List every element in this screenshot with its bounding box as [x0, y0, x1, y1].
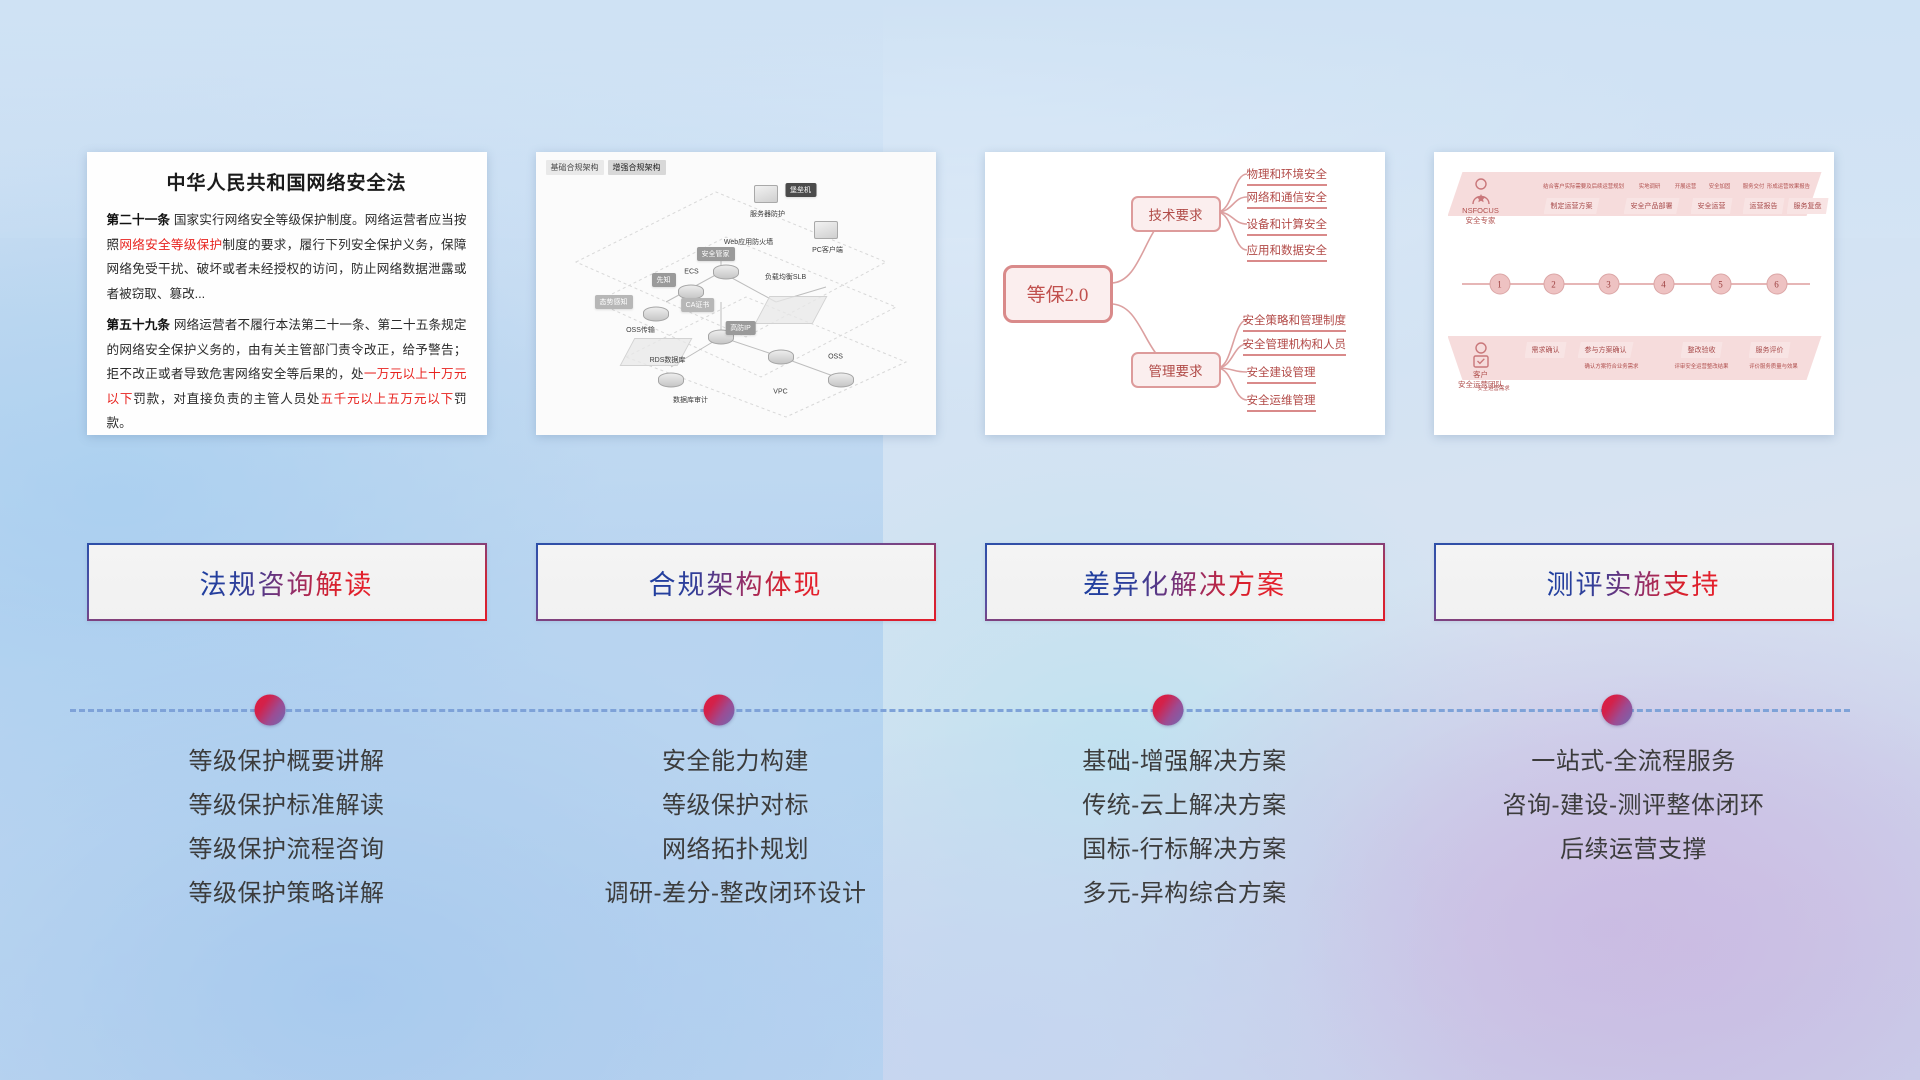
- architecture-node: 先知: [652, 273, 676, 287]
- timeline: [70, 693, 1850, 727]
- timeline-dot-3[interactable]: [1153, 695, 1184, 726]
- nsfocus-bottom-tag: 需求确认: [1525, 342, 1567, 358]
- architecture-icon-cylinder: [658, 373, 684, 388]
- law-article-21: 第二十一条 国家实行网络安全等级保护制度。网络运营者应当按照网络安全等级保护制度…: [107, 208, 467, 306]
- list-item: 等级保护标准解读: [189, 784, 385, 828]
- card-cybersecurity-law[interactable]: 中华人民共和国网络安全法 第二十一条 国家实行网络安全等级保护制度。网络运营者应…: [87, 152, 487, 435]
- nsfocus-bottom-tag: 参与方案确认: [1578, 342, 1634, 358]
- list-item: 安全能力构建: [662, 740, 809, 784]
- architecture-icon-cylinder: [828, 373, 854, 388]
- law-article-21-label: 第二十一条: [107, 213, 171, 227]
- mindmap-leaf: 物理和环境安全: [1247, 166, 1328, 186]
- list-item: 等级保护对标: [662, 784, 809, 828]
- nsfocus-bottom-tag: 服务评价: [1749, 342, 1791, 358]
- architecture-node: CA证书: [681, 298, 715, 312]
- architecture-node-label: VPC: [773, 389, 787, 396]
- mindmap-root-node: 等保2.0: [1003, 265, 1113, 323]
- preview-cards-row: 中华人民共和国网络安全法 第二十一条 国家实行网络安全等级保护制度。网络运营者应…: [0, 152, 1920, 442]
- nsfocus-bottom-caption: 评审安全运营整改结果: [1675, 362, 1729, 370]
- timeline-dashed-line: [70, 709, 1850, 712]
- architecture-node-label: 负载均衡SLB: [765, 272, 806, 282]
- architecture-node-label: OSS: [828, 354, 843, 361]
- nsfocus-top-tag: 服务复盘: [1787, 198, 1829, 214]
- list-item: 调研-差分-整改闭环设计: [605, 872, 867, 916]
- architecture-icon-cylinder: [768, 350, 794, 365]
- list-item: 多元-异构综合方案: [1082, 872, 1287, 916]
- list-item: 咨询-建设-测评整体闭环: [1503, 784, 1765, 828]
- list-item: 网络拓扑规划: [662, 828, 809, 872]
- nsfocus-step-axis: [1462, 283, 1810, 285]
- nsfocus-step-node: 3: [1598, 274, 1619, 295]
- law-article-59-label: 第五十九条: [107, 318, 171, 332]
- expert-person-icon: [1470, 178, 1492, 206]
- mindmap-leaf: 网络和通信安全: [1247, 189, 1328, 209]
- architecture-node: 堡垒机: [785, 183, 816, 197]
- law-article-59: 第五十九条 网络运营者不履行本法第二十一条、第二十五条规定的网络安全保护义务的，…: [107, 313, 467, 435]
- architecture-node-label: 服务器防护: [750, 209, 785, 219]
- nsfocus-step-node: 1: [1489, 274, 1510, 295]
- nsfocus-top-caption: 服务交付: [1743, 182, 1765, 190]
- list-item: 后续运营支撑: [1560, 828, 1707, 872]
- service-pills-row: 法规咨询解读 合规架构体现 差异化解决方案 测评实施支持: [0, 543, 1920, 621]
- mindmap-leaf: 设备和计算安全: [1247, 216, 1328, 236]
- law-article-21-highlight: 网络安全等级保护: [119, 238, 222, 252]
- nsfocus-top-tag: 制定运营方案: [1544, 198, 1600, 214]
- card-mindmap-dengbao[interactable]: 等保2.0 技术要求 管理要求 物理和环境安全 网络和通信安全 设备和计算安全 …: [985, 152, 1385, 435]
- list-item: 等级保护概要讲解: [189, 740, 385, 784]
- architecture-node: 态势感知: [595, 295, 633, 309]
- architecture-node-label: ECS: [684, 269, 698, 276]
- nsfocus-top-caption: 安全加固: [1709, 182, 1731, 190]
- architecture-node-label: OSS传输: [626, 325, 655, 335]
- nsfocus-top-caption: 开展运营: [1675, 182, 1697, 190]
- pill-label: 法规咨询解读: [200, 563, 374, 602]
- timeline-dot-4[interactable]: [1602, 695, 1633, 726]
- law-article-59-highlight-b: 五千元以上五万元以下: [320, 392, 454, 406]
- nsfocus-customer-role-line1: 客户: [1458, 370, 1503, 380]
- timeline-dot-2[interactable]: [704, 695, 735, 726]
- nsfocus-bottom-caption: 安全运营需求: [1477, 384, 1509, 392]
- nsfocus-step-node: 5: [1710, 274, 1731, 295]
- pill-label: 差异化解决方案: [1083, 563, 1286, 602]
- list-column-solution: 基础-增强解决方案 传统-云上解决方案 国标-行标解决方案 多元-异构综合方案: [985, 740, 1385, 916]
- nsfocus-bottom-tag: 整改验收: [1681, 342, 1723, 358]
- mindmap-leaf: 安全运维管理: [1247, 392, 1316, 412]
- list-item: 等级保护流程咨询: [189, 828, 385, 872]
- architecture-icon-box: [754, 185, 778, 203]
- list-item: 国标-行标解决方案: [1082, 828, 1287, 872]
- pill-regulation-consulting[interactable]: 法规咨询解读: [87, 543, 487, 621]
- architecture-node-label: RDS数据库: [650, 355, 686, 365]
- nsfocus-top-caption: 结合客户实际需要及后续运营规划: [1543, 182, 1624, 190]
- architecture-node-label: 数据库审计: [673, 395, 708, 405]
- card-cloud-architecture[interactable]: 基础合规架构 增强合规架构: [536, 152, 936, 435]
- nsfocus-top-tag: 安全产品部署: [1624, 198, 1680, 214]
- card-nsfocus-timeline[interactable]: NSFOCUS 安全专家 客户 安全运营团队 结合客户实际需要及后续运营规划 实…: [1434, 152, 1834, 435]
- list-column-architecture: 安全能力构建 等级保护对标 网络拓扑规划 调研-差分-整改闭环设计: [536, 740, 936, 916]
- architecture-canvas: 态势感知 先知 安全管家 堡垒机 服务器防护 PC客户端 Web应用防火墙 CA…: [536, 152, 936, 435]
- nsfocus-top-caption: 形成运营效果报告: [1767, 182, 1810, 190]
- pill-label: 合规架构体现: [649, 563, 823, 602]
- mindmap-leaf: 应用和数据安全: [1247, 242, 1328, 262]
- list-item: 等级保护策略详解: [189, 872, 385, 916]
- mindmap-leaf: 安全管理机构和人员: [1243, 336, 1347, 356]
- law-article-59-text-b: 罚款，对直接负责的主管人员处: [133, 392, 320, 406]
- nsfocus-step-node: 6: [1766, 274, 1787, 295]
- pill-label: 测评实施支持: [1547, 563, 1721, 602]
- list-item: 基础-增强解决方案: [1082, 740, 1287, 784]
- architecture-node: 高防IP: [725, 321, 756, 335]
- mindmap-leaf: 安全策略和管理制度: [1243, 312, 1347, 332]
- architecture-node-label: PC客户端: [812, 245, 843, 255]
- architecture-icon-cylinder: [643, 307, 669, 322]
- nsfocus-expert-role: NSFOCUS 安全专家: [1462, 206, 1499, 226]
- architecture-icon-cylinder: [713, 265, 739, 280]
- nsfocus-top-tag: 安全运营: [1691, 198, 1733, 214]
- list-item: 传统-云上解决方案: [1082, 784, 1287, 828]
- nsfocus-bottom-caption: 评价服务质量与效果: [1749, 362, 1798, 370]
- mindmap-branch-technical: 技术要求: [1131, 196, 1221, 232]
- nsfocus-bottom-caption: 确认方案符合业务需求: [1585, 362, 1639, 370]
- nsfocus-expert-role-line2: 安全专家: [1462, 216, 1499, 226]
- list-column-assessment: 一站式-全流程服务 咨询-建设-测评整体闭环 后续运营支撑: [1434, 740, 1834, 916]
- architecture-tabs: 基础合规架构 增强合规架构: [546, 160, 666, 175]
- architecture-tab-basic[interactable]: 基础合规架构: [546, 160, 604, 175]
- nsfocus-top-caption: 实地调研: [1639, 182, 1661, 190]
- pill-assessment-support[interactable]: 测评实施支持: [1434, 543, 1834, 621]
- nsfocus-top-tag: 运营报告: [1743, 198, 1785, 214]
- law-card-title: 中华人民共和国网络安全法: [107, 168, 467, 195]
- pill-compliance-architecture[interactable]: 合规架构体现: [536, 543, 936, 621]
- architecture-plate: [754, 296, 827, 324]
- architecture-icon-box: [814, 221, 838, 239]
- list-item: 一站式-全流程服务: [1531, 740, 1736, 784]
- mindmap-leaf: 安全建设管理: [1247, 364, 1316, 384]
- customer-person-icon: [1470, 342, 1492, 370]
- list-column-regulation: 等级保护概要讲解 等级保护标准解读 等级保护流程咨询 等级保护策略详解: [87, 740, 487, 916]
- timeline-dot-1[interactable]: [255, 695, 286, 726]
- service-lists-row: 等级保护概要讲解 等级保护标准解读 等级保护流程咨询 等级保护策略详解 安全能力…: [0, 740, 1920, 916]
- nsfocus-step-node: 2: [1543, 274, 1564, 295]
- pill-differentiated-solution[interactable]: 差异化解决方案: [985, 543, 1385, 621]
- architecture-node: 安全管家: [697, 247, 735, 261]
- nsfocus-expert-role-line1: NSFOCUS: [1462, 206, 1499, 216]
- architecture-node-label: Web应用防火墙: [724, 237, 773, 247]
- architecture-tab-enhanced[interactable]: 增强合规架构: [608, 160, 666, 175]
- nsfocus-step-node: 4: [1653, 274, 1674, 295]
- mindmap-branch-management: 管理要求: [1131, 352, 1221, 388]
